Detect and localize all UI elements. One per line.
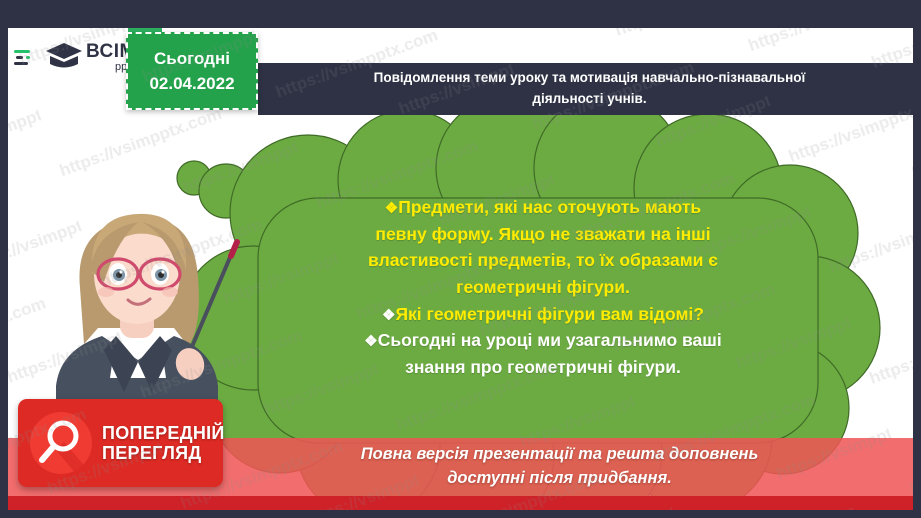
cloud-line-6-text: Сьогодні на уроці ми узагальнимо ваші <box>378 330 722 350</box>
lesson-title-bar: Повідомлення теми уроку та мотивація нав… <box>258 63 913 115</box>
cloud-line-5-text: Які геометричні фігури вам відомі? <box>395 304 704 324</box>
cloud-line-1-text: Предмети, які нас оточують мають <box>398 197 701 217</box>
speed-lines-icon <box>14 41 48 73</box>
cloud-line-3-text: властивості предметів, то їх образами є <box>368 250 718 270</box>
lesson-title-text: Повідомлення теми уроку та мотивація нав… <box>374 68 806 110</box>
bullet-icon: ❖ <box>382 307 395 324</box>
preview-badge-label: ПОПЕРЕДНІЙ ПЕРЕГЛЯД <box>102 423 225 463</box>
graduation-cap-icon <box>44 40 84 74</box>
today-label: Сьогодні <box>154 46 230 72</box>
cloud-text-block: ❖Предмети, які нас оточують мають певну … <box>300 194 786 381</box>
cloud-line-4: геометричні фігури. <box>300 274 786 301</box>
cloud-line-1: ❖Предмети, які нас оточують мають <box>300 194 786 221</box>
cloud-line-2: певну форму. Якщо не зважати на інші <box>300 221 786 248</box>
cloud-line-7-text: знання про геометричні фігури. <box>405 357 681 377</box>
cloud-line-3: властивості предметів, то їх образами є <box>300 247 786 274</box>
preview-badge-line2: ПЕРЕГЛЯД <box>102 443 225 463</box>
cloud-line-2-text: певну форму. Якщо не зважати на інші <box>375 224 710 244</box>
cloud-line-4-text: геометричні фігури. <box>456 277 630 297</box>
cloud-line-7: знання про геометричні фігури. <box>300 354 786 381</box>
preview-badge-line1: ПОПЕРЕДНІЙ <box>102 423 225 443</box>
purchase-notice-text: Повна версія презентації та решта доповн… <box>171 443 759 491</box>
lesson-title-line1: Повідомлення теми уроку та мотивація нав… <box>374 70 806 85</box>
brand-logo[interactable]: ВСІМ pptx <box>8 28 128 86</box>
bullet-icon: ❖ <box>364 333 377 350</box>
lesson-title-line2: діяльності учнів. <box>532 91 646 106</box>
slide-root: ❖Предмети, які нас оточують мають певну … <box>0 0 921 518</box>
preview-badge[interactable]: ПОПЕРЕДНІЙ ПЕРЕГЛЯД <box>18 399 223 487</box>
purchase-notice-line2: доступні після придбання. <box>447 469 672 487</box>
cloud-line-5: ❖Які геометричні фігури вам відомі? <box>300 301 786 328</box>
today-date: 02.04.2022 <box>149 71 234 97</box>
purchase-notice-line1: Повна версія презентації та решта доповн… <box>361 445 759 463</box>
cloud-line-6: ❖Сьогодні на уроці ми узагальнимо ваші <box>300 327 786 354</box>
bullet-icon: ❖ <box>385 200 398 217</box>
magnifier-icon <box>30 412 92 474</box>
slide-canvas: ❖Предмети, які нас оточують мають певну … <box>8 28 913 510</box>
today-date-badge: Сьогодні 02.04.2022 <box>126 32 258 110</box>
bottom-red-strip <box>8 496 913 510</box>
